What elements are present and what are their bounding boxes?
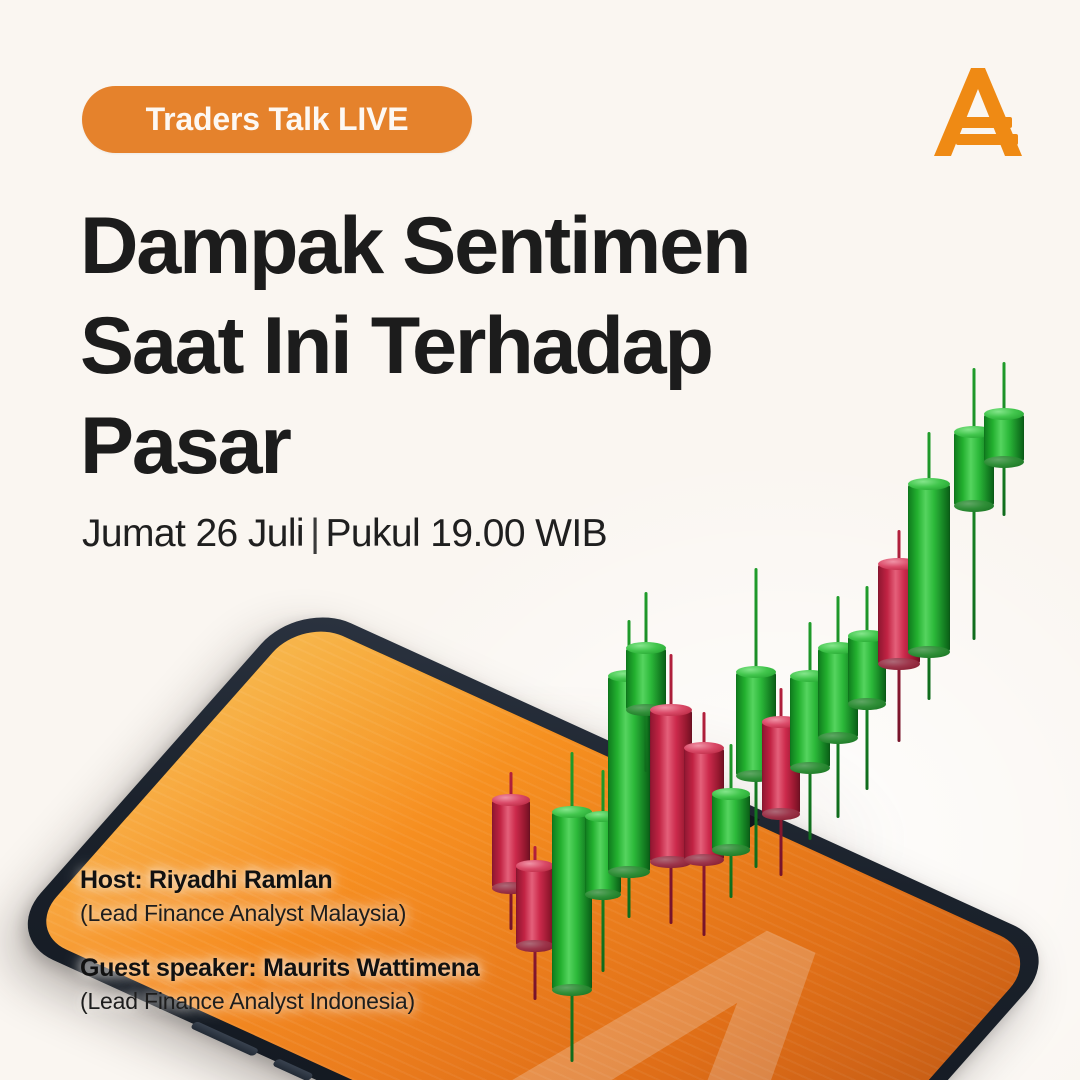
candle-top-cap xyxy=(984,408,1024,420)
candle-top-cap xyxy=(908,478,950,491)
candlestick-down xyxy=(516,846,554,1000)
credit-role: (Lead Finance Analyst Malaysia) xyxy=(80,899,479,929)
candle-bottom-cap xyxy=(608,866,650,879)
candle-body xyxy=(516,866,554,946)
credit-guest: Guest speaker: Maurits Wattimena (Lead F… xyxy=(80,954,479,1016)
candle-body xyxy=(984,414,1024,462)
credit-role: (Lead Finance Analyst Indonesia) xyxy=(80,987,479,1017)
candle-body xyxy=(908,484,950,652)
candle-top-cap xyxy=(736,666,776,678)
candle-bottom-cap xyxy=(984,456,1024,468)
candlestick-up xyxy=(984,362,1024,516)
credit-name: Guest speaker: Maurits Wattimena xyxy=(80,954,479,984)
credit-host: Host: Riyadhi Ramlan (Lead Finance Analy… xyxy=(80,866,479,928)
candle-bottom-cap xyxy=(516,940,554,951)
candlestick-up xyxy=(908,432,950,700)
candle-top-cap xyxy=(626,642,666,654)
credits-block: Host: Riyadhi Ramlan (Lead Finance Analy… xyxy=(80,866,479,1043)
candle-bottom-cap xyxy=(552,984,592,996)
candle-top-cap xyxy=(492,794,530,805)
promo-canvas: Traders Talk LIVE Dampak Sentimen Saat I… xyxy=(0,0,1080,1080)
candle-bottom-cap xyxy=(908,646,950,659)
credit-name: Host: Riyadhi Ramlan xyxy=(80,866,479,896)
candle-top-cap xyxy=(516,860,554,871)
